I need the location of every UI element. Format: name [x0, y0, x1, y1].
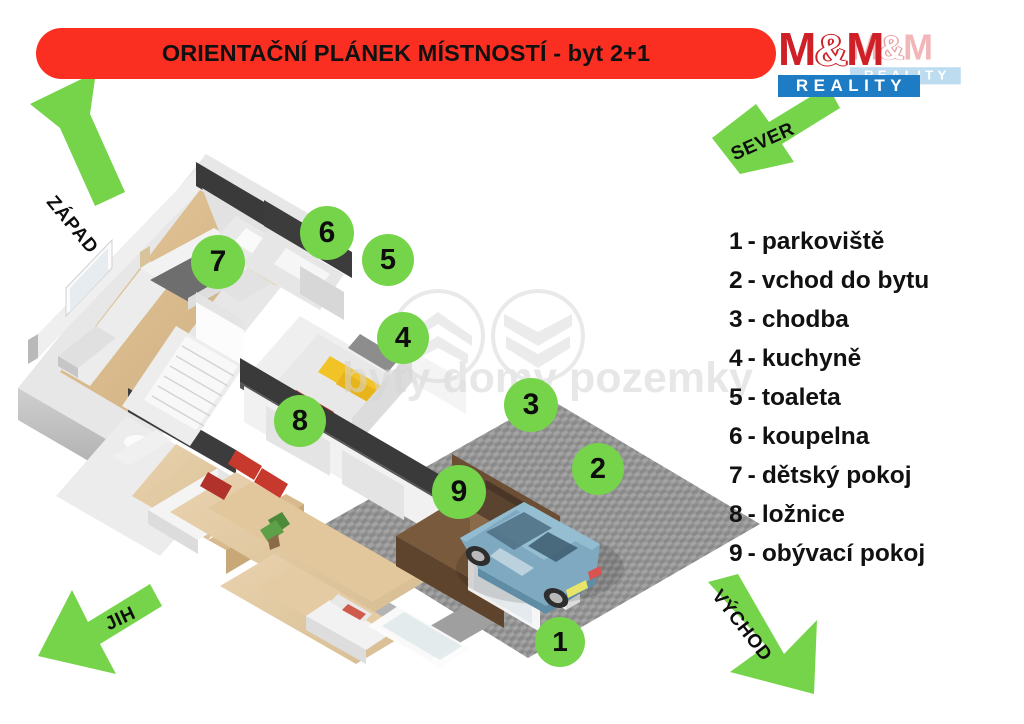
room-marker-2[interactable]: 2: [572, 443, 624, 495]
legend-row-9: 9-obývací pokoj: [729, 534, 929, 573]
legend-number: 3: [729, 300, 743, 339]
legend-row-2: 2-vchod do bytu: [729, 261, 929, 300]
legend-label: parkoviště: [762, 222, 885, 261]
south-arrow-shape: [38, 584, 162, 674]
legend: 1-parkoviště2-vchod do bytu3-chodba4-kuc…: [729, 222, 929, 573]
mm-reality-logo: M&M REALITY M&M REALITY: [778, 26, 1008, 108]
legend-dash: -: [748, 378, 756, 417]
legend-dash: -: [748, 300, 756, 339]
legend-dash: -: [748, 417, 756, 456]
legend-label: kuchyně: [762, 339, 861, 378]
compass-arrow-south: JIH: [28, 578, 163, 678]
compass-arrow-east: VÝCHOD: [704, 574, 824, 699]
room-marker-3[interactable]: 3: [504, 378, 558, 432]
legend-row-5: 5-toaleta: [729, 378, 929, 417]
legend-number: 4: [729, 339, 743, 378]
legend-dash: -: [748, 222, 756, 261]
legend-label: obývací pokoj: [762, 534, 925, 573]
compass-arrow-west: ZÁPAD: [28, 70, 138, 210]
room-marker-5[interactable]: 5: [362, 234, 414, 286]
room-marker-8[interactable]: 8: [274, 395, 326, 447]
legend-dash: -: [748, 339, 756, 378]
logo-letter-m-left: M: [778, 23, 814, 75]
legend-label: vchod do bytu: [762, 261, 929, 300]
legend-number: 8: [729, 495, 743, 534]
room-marker-9[interactable]: 9: [432, 465, 486, 519]
legend-label: toaleta: [762, 378, 841, 417]
room-marker-6[interactable]: 6: [300, 206, 354, 260]
legend-dash: -: [748, 261, 756, 300]
legend-row-1: 1-parkoviště: [729, 222, 929, 261]
legend-dash: -: [748, 534, 756, 573]
legend-row-8: 8-ložnice: [729, 495, 929, 534]
legend-label: dětský pokoj: [762, 456, 912, 495]
logo-letter-m-right: M: [846, 23, 882, 75]
legend-number: 2: [729, 261, 743, 300]
legend-label: chodba: [762, 300, 849, 339]
legend-number: 1: [729, 222, 743, 261]
title-banner: ORIENTAČNÍ PLÁNEK MÍSTNOSTÍ - byt 2+1: [36, 28, 776, 79]
room-marker-7[interactable]: 7: [191, 235, 245, 289]
legend-number: 6: [729, 417, 743, 456]
logo-ampersand: &: [814, 26, 846, 75]
room-marker-4[interactable]: 4: [377, 312, 429, 364]
legend-number: 7: [729, 456, 743, 495]
page-title: ORIENTAČNÍ PLÁNEK MÍSTNOSTÍ - byt 2+1: [162, 40, 650, 67]
legend-label: ložnice: [762, 495, 845, 534]
logo-wordmark: M&M: [778, 26, 920, 74]
logo-main-copy: M&M REALITY: [778, 26, 920, 97]
legend-row-7: 7-dětský pokoj: [729, 456, 929, 495]
legend-number: 5: [729, 378, 743, 417]
room-marker-1[interactable]: 1: [535, 617, 585, 667]
logo-tagline: REALITY: [778, 75, 920, 97]
legend-number: 9: [729, 534, 743, 573]
legend-row-4: 4-kuchyně: [729, 339, 929, 378]
legend-dash: -: [748, 495, 756, 534]
legend-dash: -: [748, 456, 756, 495]
legend-row-6: 6-koupelna: [729, 417, 929, 456]
floorplan-infographic: ORIENTAČNÍ PLÁNEK MÍSTNOSTÍ - byt 2+1 M&…: [0, 0, 1024, 724]
west-arrow-shape: [30, 72, 125, 206]
legend-row-3: 3-chodba: [729, 300, 929, 339]
legend-label: koupelna: [762, 417, 870, 456]
